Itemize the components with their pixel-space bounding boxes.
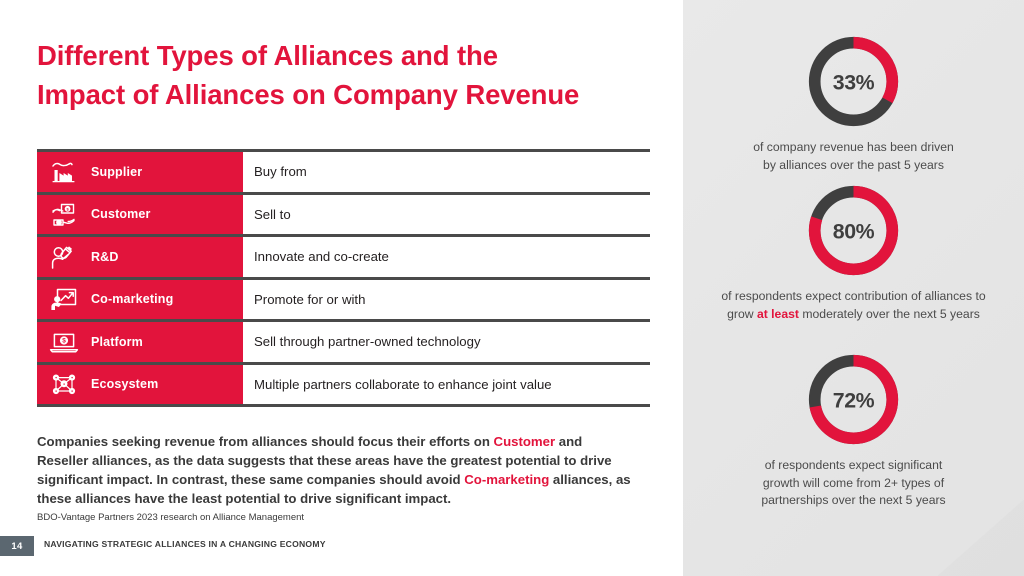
table-row-category-label: Customer — [91, 207, 151, 221]
footer-title: NAVIGATING STRATEGIC ALLIANCES IN A CHAN… — [44, 539, 326, 549]
table-row-description: Promote for or with — [243, 280, 650, 320]
table-row-category-cell: R&D — [37, 237, 243, 277]
table-row-category-label: Platform — [91, 335, 143, 349]
donut-value-label: 72% — [833, 388, 875, 412]
page-number-badge: 14 — [0, 536, 34, 556]
source-note: BDO-Vantage Partners 2023 research on Al… — [37, 512, 304, 523]
table-row-category-cell: $ Customer — [37, 195, 243, 235]
table-row: R&D Innovate and co-create — [37, 234, 650, 277]
stat-caption-line-2: by alliances over the past 5 years — [763, 158, 944, 172]
table-row-category-label: Co-marketing — [91, 292, 173, 306]
table-row-category-label: Ecosystem — [91, 377, 158, 391]
svg-text:$: $ — [62, 337, 66, 344]
stat-caption-line-3: partnerships over the next 5 years — [761, 493, 945, 507]
table-row: $ Customer Sell to — [37, 192, 650, 235]
summary-paragraph: Companies seeking revenue from alliances… — [37, 433, 637, 509]
donut-chart-80: 80% — [805, 182, 902, 279]
table-row-category-cell: Co-marketing — [37, 280, 243, 320]
donut-wrap: 72% — [683, 351, 1024, 448]
table-row: Supplier Buy from — [37, 152, 650, 192]
stat-caption-line-2: growth will come from 2+ types of — [763, 476, 944, 490]
donut-value-label: 33% — [833, 70, 875, 94]
page-title: Different Types of Alliances and the Imp… — [37, 36, 637, 114]
stat-caption-highlight: at least — [757, 307, 799, 321]
svg-text:●: ● — [71, 376, 73, 380]
table-row: ● ● ● ● ● Ecosystem Multiple partners co… — [37, 362, 650, 405]
page-title-line-1: Different Types of Alliances and the — [37, 36, 637, 75]
alliance-types-table: Supplier Buy from — [37, 149, 650, 407]
page-title-line-2: Impact of Alliances on Company Revenue — [37, 75, 637, 114]
stat-caption-line-1: of company revenue has been driven — [753, 140, 954, 154]
donut-chart-33: 33% — [805, 33, 902, 130]
summary-text-part-1: Companies seeking revenue from alliances… — [37, 434, 494, 449]
donut-wrap: 33% — [683, 33, 1024, 130]
table-bottom-rule — [37, 404, 650, 407]
summary-highlight-comarketing: Co-marketing — [464, 472, 549, 487]
test-tube-icon — [37, 244, 91, 270]
svg-text:●: ● — [71, 389, 73, 393]
stat-caption: of company revenue has been driven by al… — [683, 139, 1024, 174]
stat-caption-part-2: moderately over the next 5 years — [799, 307, 980, 321]
donut-wrap: 80% — [683, 182, 1024, 279]
table-row-category-label: Supplier — [91, 165, 142, 179]
panel-corner-fold — [938, 500, 1024, 576]
factory-icon — [37, 159, 91, 185]
svg-text:●: ● — [55, 376, 57, 380]
table-row-category-label: R&D — [91, 250, 119, 264]
network-nodes-icon: ● ● ● ● ● — [37, 371, 91, 397]
stat-caption: of respondents expect contribution of al… — [683, 288, 1024, 323]
laptop-dollar-icon: $ — [37, 329, 91, 355]
stat-block-33: 33% of company revenue has been driven b… — [683, 33, 1024, 174]
table-row-description: Buy from — [243, 152, 650, 192]
stat-block-72: 72% of respondents expect significant gr… — [683, 351, 1024, 510]
table-row-category-cell: ● ● ● ● ● Ecosystem — [37, 365, 243, 405]
svg-text:●: ● — [63, 382, 65, 386]
table-row: $ Platform Sell through partner-owned te… — [37, 319, 650, 362]
hand-money-icon: $ — [37, 201, 91, 227]
table-row-description: Innovate and co-create — [243, 237, 650, 277]
table-row: Co-marketing Promote for or with — [37, 277, 650, 320]
donut-value-label: 80% — [833, 219, 875, 243]
svg-text:●: ● — [55, 389, 57, 393]
slide-canvas: Different Types of Alliances and the Imp… — [0, 0, 1024, 576]
stat-caption: of respondents expect significant growth… — [683, 457, 1024, 510]
stat-block-80: 80% of respondents expect contribution o… — [683, 182, 1024, 323]
table-row-description: Sell through partner-owned technology — [243, 322, 650, 362]
table-row-category-cell: Supplier — [37, 152, 243, 192]
presentation-icon — [37, 286, 91, 312]
table-row-description: Sell to — [243, 195, 650, 235]
table-row-description: Multiple partners collaborate to enhance… — [243, 365, 650, 405]
donut-chart-72: 72% — [805, 351, 902, 448]
stat-caption-line-1: of respondents expect significant — [765, 458, 943, 472]
summary-highlight-customer: Customer — [494, 434, 556, 449]
table-row-category-cell: $ Platform — [37, 322, 243, 362]
